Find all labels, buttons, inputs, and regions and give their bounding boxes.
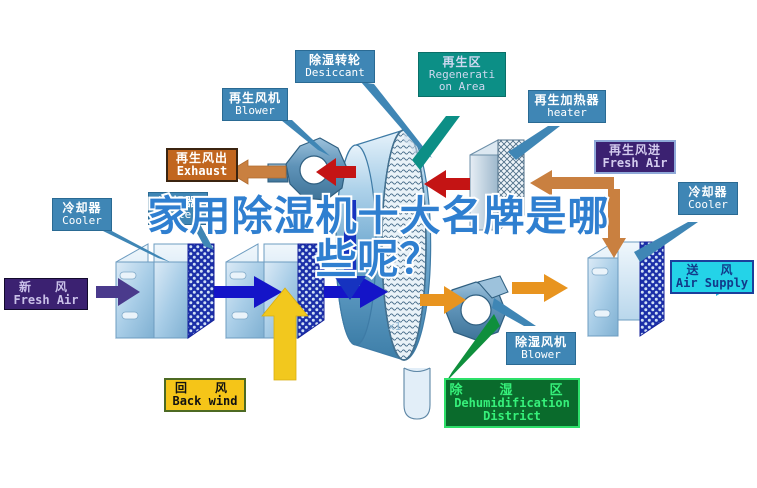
label-dehumidification-district[interactable]: 除 湿 区 Dehumidification District <box>444 378 580 428</box>
label-cooler-right[interactable]: 冷却器 Cooler <box>678 182 738 215</box>
label-regeneration-heater[interactable]: 再生加热器 heater <box>528 90 606 123</box>
label-cooler-right-en: Cooler <box>681 199 735 211</box>
label-regeneration-area-en2: on Area <box>421 81 503 93</box>
label-dehumidification-blower[interactable]: 除湿风机 Blower <box>506 332 576 365</box>
condensate-tray <box>404 368 430 419</box>
regen-hot-arrow-right <box>424 170 470 198</box>
label-dehumidification-blower-cn: 除湿风机 <box>509 336 573 349</box>
label-cooler-right-cn: 冷却器 <box>681 186 735 199</box>
label-regeneration-exhaust[interactable]: 再生风出 Exhaust <box>166 148 238 182</box>
label-air-supply-en: Air Supply <box>674 277 750 290</box>
label-regeneration-area[interactable]: 再生区 Regenerati on Area <box>418 52 506 97</box>
label-fresh-air-inlet-cn: 新 风 <box>7 281 85 294</box>
label-back-wind[interactable]: 回 风 Back wind <box>164 378 246 412</box>
label-air-supply-cn: 送 风 <box>674 264 750 277</box>
regen-intake-arrow <box>530 170 626 258</box>
blower-out-arrow <box>512 274 568 302</box>
label-cooler-left-cn: 冷却器 <box>55 202 109 215</box>
label-regeneration-heater-en: heater <box>531 107 603 119</box>
label-regeneration-blower[interactable]: 再生风机 Blower <box>222 88 288 121</box>
label-regeneration-fresh-air[interactable]: 再生风进 Fresh Air <box>594 140 676 174</box>
label-regeneration-fresh-air-cn: 再生风进 <box>598 144 672 157</box>
label-dehumidification-blower-en: Blower <box>509 349 573 361</box>
label-regeneration-exhaust-cn: 再生风出 <box>170 152 234 165</box>
label-cooler-left[interactable]: 冷却器 Cooler <box>52 198 112 231</box>
diagram-canvas: x1 <box>0 0 757 488</box>
label-cooler-left-en: Cooler <box>55 215 109 227</box>
label-regeneration-blower-cn: 再生风机 <box>225 92 285 105</box>
label-regeneration-area-cn: 再生区 <box>421 56 503 69</box>
label-back-wind-en: Back wind <box>168 395 242 408</box>
label-dehumidification-district-cn: 除 湿 区 <box>448 383 576 397</box>
heat-exchanger-3 <box>588 242 664 336</box>
label-air-supply[interactable]: 送 风 Air Supply <box>670 260 754 294</box>
label-cooler-mid-en: Cooler <box>151 209 205 221</box>
label-regeneration-fresh-air-en: Fresh Air <box>598 157 672 170</box>
label-cooler-mid[interactable]: 冷却器 Cooler <box>148 192 208 225</box>
label-desiccant-wheel[interactable]: 除湿转轮 Desiccant <box>295 50 375 83</box>
label-cooler-mid-cn: 冷却器 <box>151 196 205 209</box>
label-fresh-air-inlet[interactable]: 新 风 Fresh Air <box>4 278 88 310</box>
label-regeneration-blower-en: Blower <box>225 105 285 117</box>
label-regeneration-exhaust-en: Exhaust <box>170 165 234 178</box>
svg-text:x1: x1 <box>388 320 401 333</box>
label-regeneration-heater-cn: 再生加热器 <box>531 94 603 107</box>
label-fresh-air-inlet-en: Fresh Air <box>7 294 85 307</box>
label-desiccant-wheel-en: Desiccant <box>298 67 372 79</box>
label-dehumidification-district-en2: District <box>448 410 576 423</box>
label-desiccant-wheel-cn: 除湿转轮 <box>298 54 372 67</box>
label-back-wind-cn: 回 风 <box>168 382 242 395</box>
diagram-graphics: x1 <box>0 0 757 488</box>
